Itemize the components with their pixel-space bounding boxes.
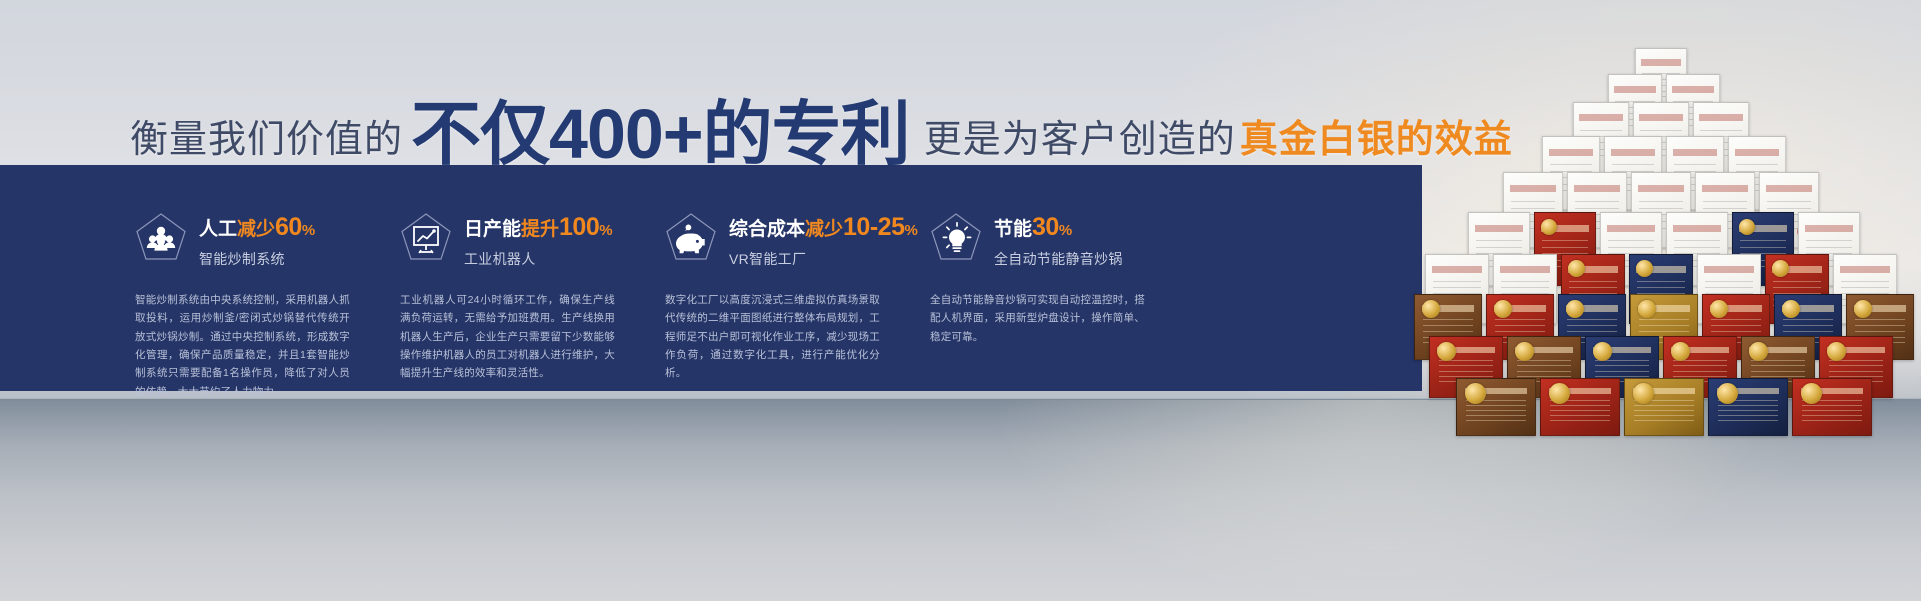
certificate-text-line bbox=[1767, 201, 1811, 202]
certificate-text-line bbox=[1718, 410, 1777, 411]
certificate-medal bbox=[1827, 342, 1846, 361]
certificate-text-line bbox=[1751, 376, 1806, 377]
certificate-text-line bbox=[1802, 405, 1861, 406]
certificate-text-line bbox=[1640, 130, 1681, 131]
feature-body: 全自动节能静音炒锅可实现自动控温控时，搭配人机界面，采用新型炉盘设计，操作简单、… bbox=[930, 291, 1145, 346]
certificate-text-line bbox=[1550, 410, 1609, 411]
feature-item-energy: 节能30% 全自动节能静音炒锅 全自动节能静音炒锅可实现自动控温控时，搭配人机界… bbox=[930, 165, 1180, 391]
certificate-text-line bbox=[1783, 319, 1833, 320]
certificate-title-bar bbox=[1510, 185, 1556, 192]
certificate-item bbox=[1540, 378, 1620, 436]
certificate-title-bar bbox=[1702, 185, 1748, 192]
certificate-text-line bbox=[1718, 415, 1777, 416]
certificate-text-line bbox=[1718, 420, 1777, 421]
chart-board-icon bbox=[400, 212, 452, 264]
certificate-medal bbox=[1566, 300, 1584, 318]
certificate-text-line bbox=[1639, 319, 1689, 320]
page-title: 衡量我们价值的 不仅400+的专利 更是为客户创造的 真金白银的效益 bbox=[130, 72, 1513, 173]
certificate-medal bbox=[1739, 219, 1755, 235]
certificate-medal bbox=[1593, 342, 1612, 361]
certificate-text-line bbox=[1740, 240, 1786, 241]
certificate-text-line bbox=[1595, 376, 1650, 377]
certificate-text-line bbox=[1634, 420, 1693, 421]
feature-title-value: 30 bbox=[1032, 213, 1059, 241]
certificate-medal bbox=[1854, 300, 1872, 318]
feature-title: 人工减少60% bbox=[199, 213, 315, 242]
certificate-text-line bbox=[1806, 247, 1852, 248]
feature-subtitle: 全自动节能静音炒锅 bbox=[994, 249, 1123, 269]
certificate-title-bar bbox=[1766, 185, 1812, 192]
certificate-medal bbox=[1710, 300, 1728, 318]
certificate-medal bbox=[1422, 300, 1440, 318]
certificate-text-line bbox=[1740, 247, 1786, 248]
certificate-medal bbox=[1717, 383, 1738, 404]
feature-texts: 日产能提升100% 工业机器人 bbox=[464, 212, 613, 269]
certificate-text-line bbox=[1595, 365, 1650, 366]
feature-subtitle: 智能炒制系统 bbox=[199, 249, 315, 269]
certificate-text-line bbox=[1466, 420, 1525, 421]
certificate-title-bar bbox=[1673, 225, 1721, 232]
certificate-text-line bbox=[1639, 208, 1683, 209]
certificate-title-bar bbox=[1840, 266, 1890, 273]
headline-highlight: 真金白银的效益 bbox=[1240, 108, 1513, 163]
certificate-text-line bbox=[1700, 130, 1741, 131]
feature-item-labor: 人工减少60% 智能炒制系统 智能炒制系统由中央系统控制，采用机器人抓取投料，运… bbox=[135, 165, 385, 391]
feature-title-unit: % bbox=[599, 222, 612, 239]
certificate-text-line bbox=[1705, 281, 1752, 282]
certificate-text-line bbox=[1569, 281, 1616, 282]
feature-header: 综合成本减少10-25% VR智能工厂 bbox=[665, 212, 915, 269]
certificate-medal bbox=[1568, 260, 1585, 277]
certificate-text-line bbox=[1476, 240, 1522, 241]
feature-texts: 综合成本减少10-25% VR智能工厂 bbox=[729, 212, 918, 269]
certificate-text-line bbox=[1634, 405, 1693, 406]
certificate-medal bbox=[1549, 383, 1570, 404]
certificate-text-line bbox=[1802, 410, 1861, 411]
certificate-text-line bbox=[1751, 365, 1806, 366]
certificate-text-line bbox=[1550, 164, 1593, 165]
certificate-text-line bbox=[1501, 281, 1548, 282]
certificate-medal bbox=[1801, 383, 1822, 404]
feature-title-unit: % bbox=[302, 222, 315, 239]
certificate-title-bar bbox=[1614, 86, 1656, 93]
certificate-text-line bbox=[1841, 287, 1888, 288]
certificate-text-line bbox=[1673, 365, 1728, 366]
headline-prefix: 衡量我们价值的 bbox=[130, 108, 403, 163]
feature-title-prefix: 日产能 bbox=[464, 219, 521, 240]
certificate-text-line bbox=[1855, 325, 1905, 326]
lightbulb-icon bbox=[930, 212, 982, 264]
feature-item-capacity: 日产能提升100% 工业机器人 工业机器人可24小时循环工作，确保生产线满负荷运… bbox=[400, 165, 650, 391]
certificate-medal bbox=[1541, 219, 1557, 235]
feature-title-value: 10-25 bbox=[843, 213, 904, 241]
certificate-text-line bbox=[1673, 371, 1728, 372]
certificate-text-line bbox=[1773, 287, 1820, 288]
feature-body: 数字化工厂以高度沉浸式三维虚拟仿真场景取代传统的二维平面图纸进行整体布局规划，工… bbox=[665, 291, 880, 383]
certificate-text-line bbox=[1569, 287, 1616, 288]
certificate-text-line bbox=[1608, 240, 1654, 241]
certificate-text-line bbox=[1773, 281, 1820, 282]
certificate-medal bbox=[1633, 383, 1654, 404]
certificate-title-bar bbox=[1735, 149, 1780, 156]
certificate-text-line bbox=[1439, 365, 1494, 366]
certificate-title-bar bbox=[1549, 149, 1594, 156]
certificate-text-line bbox=[1511, 201, 1555, 202]
certificate-text-line bbox=[1495, 319, 1545, 320]
certificate-medal bbox=[1465, 383, 1486, 404]
certificate-text-line bbox=[1423, 325, 1473, 326]
certificate-text-line bbox=[1550, 420, 1609, 421]
certificate-text-line bbox=[1466, 405, 1525, 406]
certificate-title-bar bbox=[1432, 266, 1482, 273]
certificate-text-line bbox=[1550, 415, 1609, 416]
feature-header: 人工减少60% 智能炒制系统 bbox=[135, 212, 385, 269]
certificate-medal bbox=[1515, 342, 1534, 361]
certificate-text-line bbox=[1639, 325, 1689, 326]
feature-texts: 节能30% 全自动节能静音炒锅 bbox=[994, 212, 1123, 269]
certificate-item bbox=[1708, 378, 1788, 436]
certificate-title-bar bbox=[1641, 59, 1681, 65]
certificate-text-line bbox=[1439, 371, 1494, 372]
feature-texts: 人工减少60% 智能炒制系统 bbox=[199, 212, 315, 269]
certificate-text-line bbox=[1511, 208, 1555, 209]
certificate-text-line bbox=[1637, 287, 1684, 288]
certificate-text-line bbox=[1736, 164, 1779, 165]
certificate-title-bar bbox=[1699, 114, 1742, 121]
certificate-text-line bbox=[1718, 405, 1777, 406]
certificate-text-line bbox=[1542, 247, 1588, 248]
certificate-text-line bbox=[1673, 376, 1728, 377]
feature-title-prefix: 综合成本 bbox=[729, 219, 805, 240]
piggy-bank-icon bbox=[665, 212, 717, 264]
certificate-medal bbox=[1437, 342, 1456, 361]
certificate-text-line bbox=[1466, 415, 1525, 416]
certificate-medal bbox=[1494, 300, 1512, 318]
certificate-text-line bbox=[1517, 371, 1572, 372]
feature-title-unit: % bbox=[1059, 222, 1072, 239]
certificate-title-bar bbox=[1574, 185, 1620, 192]
certificate-title-bar bbox=[1673, 149, 1718, 156]
certificate-text-line bbox=[1639, 331, 1689, 332]
certificate-text-line bbox=[1575, 201, 1619, 202]
certificate-text-line bbox=[1476, 247, 1522, 248]
feature-title-keyword: 减少 bbox=[805, 219, 843, 240]
certificate-item bbox=[1456, 378, 1536, 436]
headline-emphasis: 不仅400+的专利 bbox=[411, 78, 910, 179]
certificate-title-bar bbox=[1638, 185, 1684, 192]
certificate-item bbox=[1624, 378, 1704, 436]
certificate-text-line bbox=[1433, 281, 1480, 282]
certificate-text-line bbox=[1711, 325, 1761, 326]
certificate-text-line bbox=[1855, 319, 1905, 320]
certificate-text-line bbox=[1495, 331, 1545, 332]
feature-subtitle: VR智能工厂 bbox=[729, 249, 918, 269]
certificate-text-line bbox=[1517, 376, 1572, 377]
headline-middle: 更是为客户创造的 bbox=[924, 108, 1236, 163]
certificate-text-line bbox=[1639, 201, 1683, 202]
feature-body: 智能炒制系统由中央系统控制，采用机器人抓取投料，运用炒制釜/密闭式炒锅替代传统开… bbox=[135, 291, 350, 401]
certificate-text-line bbox=[1829, 376, 1884, 377]
certificate-text-line bbox=[1567, 325, 1617, 326]
certificate-medal bbox=[1671, 342, 1690, 361]
certificate-text-line bbox=[1567, 319, 1617, 320]
certificate-text-line bbox=[1580, 130, 1621, 131]
certificate-text-line bbox=[1783, 331, 1833, 332]
certificate-text-line bbox=[1674, 247, 1720, 248]
certificate-text-line bbox=[1829, 371, 1884, 372]
certificate-title-bar bbox=[1579, 114, 1622, 121]
feature-title-prefix: 人工 bbox=[199, 219, 237, 240]
feature-header: 节能30% 全自动节能静音炒锅 bbox=[930, 212, 1180, 269]
certificate-text-line bbox=[1567, 331, 1617, 332]
certificate-text-line bbox=[1542, 240, 1588, 241]
certificate-text-line bbox=[1517, 365, 1572, 366]
certificate-title-bar bbox=[1639, 114, 1682, 121]
certificate-text-line bbox=[1802, 415, 1861, 416]
people-group-icon bbox=[135, 212, 187, 264]
certificate-title-bar bbox=[1704, 266, 1754, 273]
hero-banner: 衡量我们价值的 不仅400+的专利 更是为客户创造的 真金白银的效益 bbox=[0, 0, 1921, 601]
feature-title: 日产能提升100% bbox=[464, 213, 613, 242]
certificate-text-line bbox=[1495, 325, 1545, 326]
feature-panel: 人工减少60% 智能炒制系统 智能炒制系统由中央系统控制，采用机器人抓取投料，运… bbox=[0, 165, 1422, 391]
certificate-title-bar bbox=[1475, 225, 1523, 232]
certificate-text-line bbox=[1634, 415, 1693, 416]
feature-title-value: 100 bbox=[559, 213, 599, 241]
feature-title-keyword: 提升 bbox=[521, 219, 559, 240]
certificate-text-line bbox=[1711, 319, 1761, 320]
certificate-medal bbox=[1772, 260, 1789, 277]
certificate-text-line bbox=[1783, 325, 1833, 326]
certificate-title-bar bbox=[1672, 86, 1714, 93]
feature-title-keyword: 减少 bbox=[237, 219, 275, 240]
certificate-text-line bbox=[1466, 410, 1525, 411]
certificate-text-line bbox=[1841, 281, 1888, 282]
certificate-text-line bbox=[1433, 287, 1480, 288]
certificate-text-line bbox=[1711, 331, 1761, 332]
certificate-text-line bbox=[1634, 410, 1693, 411]
certificate-text-line bbox=[1423, 331, 1473, 332]
certificate-text-line bbox=[1703, 201, 1747, 202]
certificate-text-line bbox=[1806, 240, 1852, 241]
certificate-text-line bbox=[1439, 376, 1494, 377]
feature-title-value: 60 bbox=[275, 213, 302, 241]
certificate-text-line bbox=[1705, 287, 1752, 288]
certificate-text-line bbox=[1674, 164, 1717, 165]
certificate-title-bar bbox=[1607, 225, 1655, 232]
certificate-text-line bbox=[1751, 371, 1806, 372]
certificate-item bbox=[1792, 378, 1872, 436]
certificate-text-line bbox=[1674, 240, 1720, 241]
certificate-text-line bbox=[1608, 247, 1654, 248]
certificate-text-line bbox=[1637, 281, 1684, 282]
certificate-text-line bbox=[1802, 420, 1861, 421]
certificate-title-bar bbox=[1805, 225, 1853, 232]
certificate-text-line bbox=[1829, 365, 1884, 366]
certificate-medal bbox=[1749, 342, 1768, 361]
feature-body: 工业机器人可24小时循环工作，确保生产线满负荷运转，无需给予加班费用。生产线换用… bbox=[400, 291, 615, 383]
feature-title: 节能30% bbox=[994, 213, 1123, 242]
certificate-text-line bbox=[1767, 208, 1811, 209]
feature-title: 综合成本减少10-25% bbox=[729, 213, 918, 242]
certificate-text-line bbox=[1575, 208, 1619, 209]
certificate-text-line bbox=[1855, 331, 1905, 332]
certificate-title-bar bbox=[1500, 266, 1550, 273]
certificate-medal bbox=[1636, 260, 1653, 277]
feature-title-prefix: 节能 bbox=[994, 219, 1032, 240]
certificate-text-line bbox=[1703, 208, 1747, 209]
feature-subtitle: 工业机器人 bbox=[464, 249, 613, 269]
certificate-text-line bbox=[1501, 287, 1548, 288]
feature-header: 日产能提升100% 工业机器人 bbox=[400, 212, 650, 269]
certificate-title-bar bbox=[1611, 149, 1656, 156]
certificate-text-line bbox=[1423, 319, 1473, 320]
certificate-text-line bbox=[1612, 164, 1655, 165]
certificate-text-line bbox=[1595, 371, 1650, 372]
feature-item-cost: 综合成本减少10-25% VR智能工厂 数字化工厂以高度沉浸式三维虚拟仿真场景取… bbox=[665, 165, 915, 391]
certificate-text-line bbox=[1550, 405, 1609, 406]
certificate-medal bbox=[1638, 300, 1656, 318]
feature-title-unit: % bbox=[904, 222, 917, 239]
certificate-medal bbox=[1782, 300, 1800, 318]
